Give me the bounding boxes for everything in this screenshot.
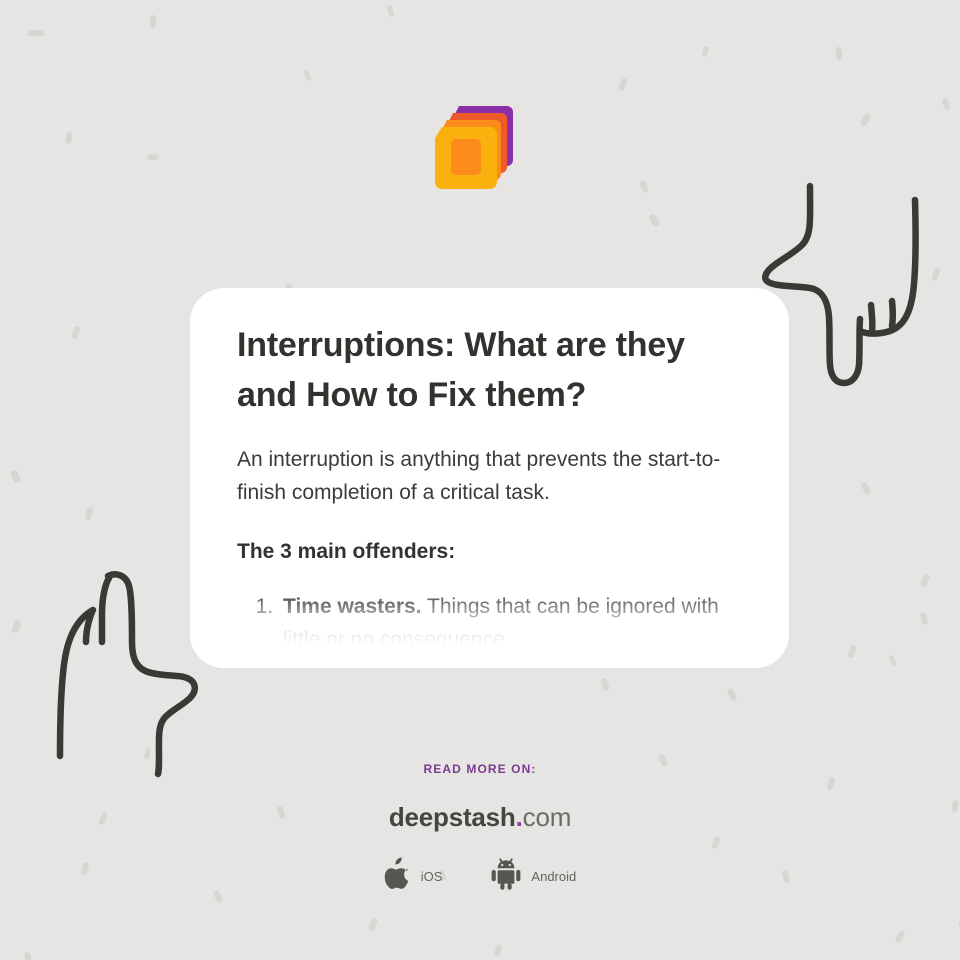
confetti-piece (726, 687, 738, 701)
offenders-list: Time wasters. Things that can be ignored… (237, 590, 742, 656)
confetti-piece (368, 917, 378, 931)
confetti-piece (859, 112, 872, 127)
confetti-piece (493, 944, 502, 957)
confetti-piece (941, 97, 950, 110)
brand-name: deepstash (389, 802, 516, 832)
confetti-piece (84, 506, 93, 520)
content-card: Interruptions: What are they and How to … (190, 288, 789, 668)
confetti-piece (24, 952, 32, 960)
ios-store-label: iOS (421, 869, 443, 884)
card-inner: Interruptions: What are they and How to … (190, 288, 789, 656)
confetti-piece (303, 69, 311, 81)
confetti-piece (147, 154, 159, 160)
confetti-piece (919, 611, 928, 625)
confetti-piece (639, 179, 650, 193)
brand-dot: . (516, 802, 523, 832)
brand-tld: com (523, 802, 572, 832)
confetti-piece (11, 619, 23, 634)
confetti-piece (835, 47, 843, 61)
confetti-piece (387, 5, 395, 18)
confetti-piece (71, 325, 81, 339)
card-intro-text: An interruption is anything that prevent… (237, 443, 742, 509)
confetti-piece (888, 654, 896, 666)
footer: READ MORE ON: deepstash.com iOS (0, 762, 960, 895)
confetti-piece (149, 15, 157, 29)
brand-wordmark[interactable]: deepstash.com (0, 802, 960, 833)
read-more-label: READ MORE ON: (0, 762, 960, 776)
page-title: Interruptions: What are they and How to … (237, 321, 742, 421)
confetti-piece (648, 213, 661, 228)
ios-store-badge[interactable]: iOS (384, 857, 443, 895)
confetti-piece (860, 481, 871, 495)
confetti-piece (27, 30, 45, 36)
confetti-piece (618, 77, 628, 91)
card-subheading: The 3 main offenders: (237, 536, 742, 568)
confetti-piece (600, 677, 610, 691)
store-badges-row: iOS (0, 857, 960, 895)
confetti-piece (702, 46, 710, 58)
android-store-label: Android (531, 869, 576, 884)
confetti-piece (894, 929, 905, 943)
confetti-piece (65, 132, 73, 145)
android-icon (490, 857, 522, 895)
apple-icon (384, 857, 412, 895)
android-store-badge[interactable]: Android (490, 857, 576, 895)
confetti-piece (847, 644, 857, 658)
confetti-piece (10, 469, 21, 484)
list-item: Time wasters. Things that can be ignored… (279, 590, 742, 656)
deepstash-logo (429, 104, 515, 196)
confetti-piece (920, 573, 931, 587)
list-item-lead: Time wasters. (283, 595, 422, 618)
